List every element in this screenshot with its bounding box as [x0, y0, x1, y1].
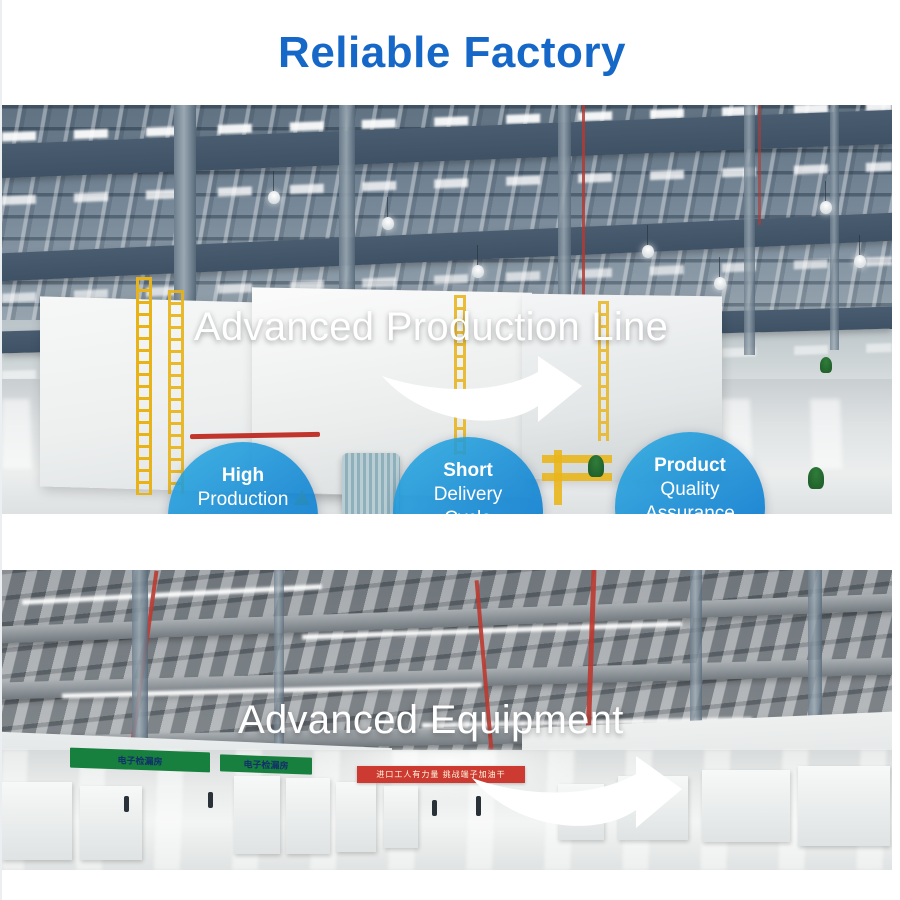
feature-line: Assurance	[645, 502, 735, 514]
banner-heading-advanced-equipment: Advanced Equipment	[238, 698, 624, 743]
banner-heading-production-line: Advanced Production Line	[194, 305, 668, 350]
banner-production-line: Advanced Production Line High Production…	[2, 105, 892, 514]
sign-text: 电子检漏房	[117, 753, 162, 768]
feature-line: High	[222, 464, 264, 488]
feature-line: Short	[443, 459, 493, 483]
feature-line: Product	[654, 454, 726, 478]
feature-line: Delivery	[434, 483, 503, 507]
swoosh-arrow-right-icon	[382, 350, 582, 422]
feature-line: Quality	[660, 478, 719, 502]
feature-line: Production	[198, 488, 289, 512]
feature-line: Cycle	[444, 507, 492, 514]
page-title: Reliable Factory	[278, 31, 626, 75]
banner-gap	[2, 514, 900, 570]
swoosh-arrow-right-icon	[472, 750, 682, 828]
banner-advanced-equipment: 电子检漏房 电子检漏房 进口工人有力量 挑战端子加油干 Advanced Equ…	[2, 570, 892, 870]
sign-leak-detection-room-2: 电子检漏房	[220, 754, 312, 774]
page-header: Reliable Factory	[2, 0, 900, 105]
page-bottom-margin	[2, 870, 900, 900]
sign-text: 电子检漏房	[243, 757, 288, 772]
factory-showcase-page: Reliable Factory	[0, 0, 900, 900]
